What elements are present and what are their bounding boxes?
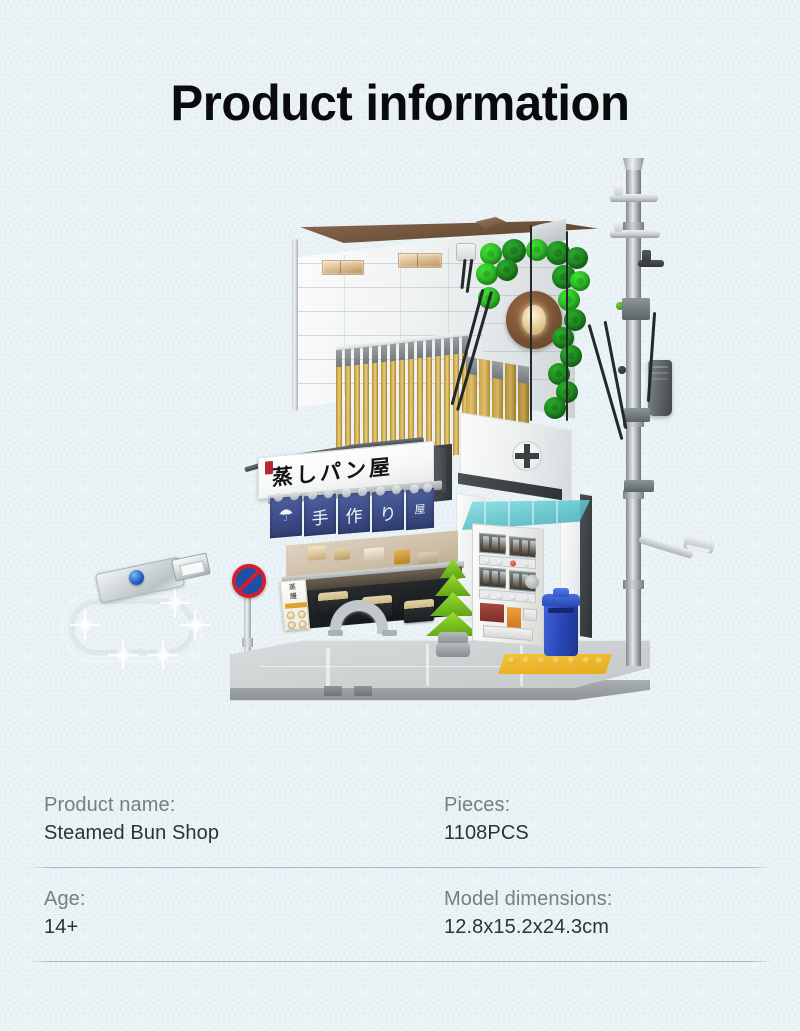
noren-ring [324, 489, 333, 499]
noren-panel: ☂ [270, 496, 302, 539]
noren-panel: 作 [338, 492, 370, 535]
insulator-dark [642, 250, 651, 263]
no-parking-disc-icon [232, 564, 266, 598]
brick-line [296, 287, 486, 288]
noren-character: 手 [304, 503, 336, 531]
slat-clip [453, 337, 459, 355]
power-cable [530, 225, 532, 421]
cable-mount-bracket [456, 243, 476, 261]
led-dot [155, 647, 171, 663]
drink-display [479, 567, 506, 589]
downspout-pipe [292, 239, 298, 411]
noren-ring [342, 488, 351, 498]
noren-character: 屋 [406, 500, 434, 518]
baseplate-vent [324, 686, 342, 696]
noren-ring [392, 485, 401, 495]
selection-button[interactable] [484, 592, 490, 598]
shelf-goods [334, 547, 350, 560]
menu-board: 蒸 饅 [280, 579, 310, 631]
selection-button[interactable] [484, 558, 490, 564]
spec-value: 1108PCS [444, 819, 529, 847]
slat-clip [417, 341, 423, 359]
brick-line [296, 311, 486, 312]
spec-divider [28, 961, 772, 962]
noren-panel: 屋 [406, 488, 434, 530]
awning-rib [556, 500, 558, 530]
shelf-goods [364, 547, 384, 562]
led-dot [115, 647, 131, 663]
drink-bottle [492, 537, 498, 551]
spec-label: Pieces: [444, 792, 529, 819]
bin-top-knob [553, 588, 569, 597]
selection-button[interactable] [523, 595, 529, 601]
noren-character: ☂ [270, 505, 302, 528]
pipe-flange [382, 630, 397, 636]
led-dot [187, 617, 203, 633]
noren-character: 作 [338, 501, 370, 529]
drink-bottle [513, 573, 519, 587]
pole-marker-dark [618, 366, 626, 374]
pole-cap [623, 158, 644, 170]
slat-clip [354, 348, 360, 366]
spec-row-2: Age: 14+ Model dimensions: 12.8x15.2x24.… [0, 874, 800, 956]
dispense-tray[interactable] [483, 625, 533, 641]
no-parking-slash [237, 569, 261, 593]
product-photo: 蒸しパン屋 ☂ 手 作 り [0, 140, 800, 760]
spec-divider [28, 867, 772, 868]
drink-bottle [500, 571, 506, 585]
specifications-section: Product name: Steamed Bun Shop Pieces: 1… [0, 780, 800, 980]
drink-bottle [483, 536, 489, 550]
noren-ring [376, 486, 385, 496]
noren-ring [274, 492, 283, 502]
slat-clip [345, 349, 351, 367]
drink-display [509, 536, 536, 558]
ad-panel-orange [507, 607, 521, 628]
leaf-dark [496, 259, 518, 281]
menu-photo [298, 620, 307, 629]
pole-bracket [624, 480, 654, 492]
utility-pole [608, 150, 718, 670]
noren-ring [290, 491, 299, 501]
change-slot[interactable] [523, 608, 537, 621]
pole-bracket [624, 408, 650, 422]
vent-blade [527, 453, 539, 459]
ad-panel-red [480, 603, 504, 623]
drink-display [479, 533, 506, 555]
slat-clip [426, 340, 432, 358]
slat-clip [336, 350, 342, 368]
noren-ring [410, 484, 419, 494]
usb-power-button [129, 570, 144, 585]
baseplate-vent [354, 686, 372, 696]
drink-bottle [513, 539, 519, 553]
led-dot [167, 595, 183, 611]
spec-value: 12.8x15.2x24.3cm [444, 913, 612, 941]
slat-clip [399, 343, 405, 361]
noren-panel: り [372, 490, 404, 533]
slat-clip [381, 345, 387, 363]
wall-vent-icon [512, 441, 542, 471]
noren-ring [358, 487, 367, 497]
spec-pieces: Pieces: 1108PCS [444, 792, 529, 847]
bin-slot [548, 608, 574, 613]
menu-photo [287, 611, 296, 620]
leaf-bright [476, 263, 498, 285]
insulator [614, 183, 623, 196]
awning-rib [532, 500, 534, 530]
spec-label: Age: [44, 886, 86, 913]
foliage-wall-decoration [476, 239, 588, 439]
product-information-page: Product information [0, 0, 800, 1031]
menu-board-band [285, 602, 307, 609]
slat-clip [390, 344, 396, 362]
spec-value: Steamed Bun Shop [44, 819, 219, 847]
page-title: Product information [8, 74, 792, 132]
drink-bottle [530, 541, 536, 555]
leaf-bright [558, 289, 580, 311]
drink-bottle [483, 570, 489, 584]
medallion-light [522, 305, 546, 335]
upper-window [398, 253, 442, 268]
noren-panel: 手 [304, 494, 336, 537]
drink-bottle [522, 540, 528, 554]
spec-model-dimensions: Model dimensions: 12.8x15.2x24.3cm [444, 886, 612, 941]
drink-bottle [500, 537, 506, 551]
menu-board-text: 蒸 饅 [284, 583, 297, 604]
noren-character: り [372, 499, 404, 527]
drink-bottle [492, 571, 498, 585]
pipe-flange [328, 630, 343, 636]
leaf-bright [570, 271, 590, 291]
shelf-goods [394, 549, 410, 564]
slat-clip [444, 338, 450, 356]
insulator [614, 219, 623, 232]
leaf-dark [544, 397, 566, 419]
upper-window [322, 260, 364, 275]
coin-slot-icon[interactable] [525, 574, 539, 589]
menu-photo [287, 621, 296, 630]
noren-ring [308, 490, 317, 500]
led-dot [77, 617, 93, 633]
spec-label: Model dimensions: [444, 886, 612, 913]
selection-button[interactable] [497, 559, 503, 565]
selection-button-active[interactable] [510, 560, 516, 566]
selection-button[interactable] [497, 593, 503, 599]
spec-value: 14+ [44, 913, 86, 941]
selection-button[interactable] [523, 561, 529, 567]
power-cable [566, 231, 568, 421]
slat-clip [408, 342, 414, 360]
spec-row-1: Product name: Steamed Bun Shop Pieces: 1… [0, 780, 800, 862]
noren-ring [423, 483, 432, 493]
menu-photo [298, 610, 307, 619]
usb-led-light-accessory [55, 555, 235, 675]
spec-label: Product name: [44, 792, 219, 819]
spec-age: Age: 14+ [44, 886, 86, 941]
shelf-goods [308, 545, 326, 561]
slat-clip [435, 339, 441, 357]
selection-button[interactable] [510, 594, 516, 600]
slat-clip [363, 347, 369, 365]
pole-joint [623, 580, 644, 589]
spec-product-name: Product name: Steamed Bun Shop [44, 792, 219, 847]
tree-pot-lower [436, 643, 470, 657]
pole-bracket [622, 298, 650, 320]
vending-machine-body [472, 523, 544, 647]
slat-clip [372, 346, 378, 364]
trash-bin-prop [542, 588, 582, 658]
